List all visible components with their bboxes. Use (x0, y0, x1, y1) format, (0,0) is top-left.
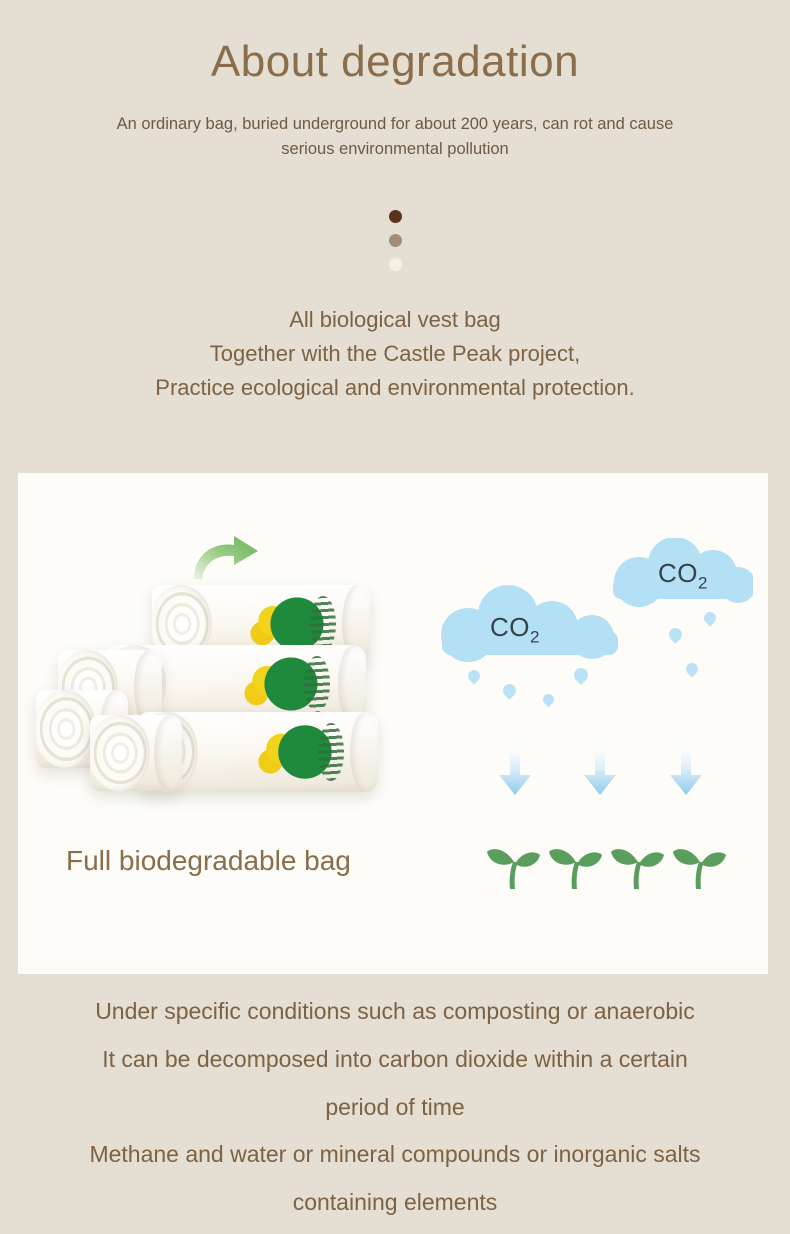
tagline-line-2: Together with the Castle Peak project, (0, 337, 790, 371)
bottom-line-3: period of time (0, 1084, 790, 1132)
page-title: About degradation (0, 38, 790, 86)
bottom-line-1: Under specific conditions such as compos… (0, 988, 790, 1036)
decorative-dot-group (388, 210, 402, 271)
co2-cloud-icon: CO2 (613, 538, 753, 608)
tagline-line-1: All biological vest bag (0, 303, 790, 337)
bag-roll (90, 715, 182, 791)
card-caption: Full biodegradable bag (66, 845, 351, 877)
bag-roll-cap (154, 715, 182, 791)
sprout-icon (672, 838, 728, 890)
down-arrow-icon (583, 748, 617, 796)
co2-cloud-icon: CO2 (440, 585, 620, 669)
down-arrow-icon (498, 748, 532, 796)
bottom-line-4: Methane and water or mineral compounds o… (0, 1131, 790, 1179)
bag-roll-cap (350, 712, 378, 792)
bag-roll-spiral (90, 715, 150, 791)
sprout-icon (486, 838, 542, 890)
bottom-description: Under specific conditions such as compos… (0, 988, 790, 1227)
tagline-line-3: Practice ecological and environmental pr… (0, 371, 790, 405)
co2-label: CO2 (613, 558, 753, 593)
bottom-line-2: It can be decomposed into carbon dioxide… (0, 1036, 790, 1084)
bottom-line-5: containing elements (0, 1179, 790, 1227)
down-arrow-icon (669, 748, 703, 796)
page-subtitle: An ordinary bag, buried underground for … (105, 112, 685, 162)
sprout-icon (548, 838, 604, 890)
sprout-icon (610, 838, 666, 890)
dot-light-icon (389, 258, 402, 271)
bag-roll-label (238, 712, 346, 792)
dot-dark-icon (389, 210, 402, 223)
curved-green-arrow-icon (188, 534, 260, 582)
page-root: { "header": { "title": "About degradatio… (0, 0, 790, 1234)
page-header: About degradation An ordinary bag, burie… (0, 0, 790, 162)
co2-label: CO2 (450, 612, 580, 647)
tagline-block: All biological vest bag Together with th… (0, 303, 790, 405)
dot-medium-icon (389, 234, 402, 247)
bag-roll-spiral (36, 690, 96, 768)
